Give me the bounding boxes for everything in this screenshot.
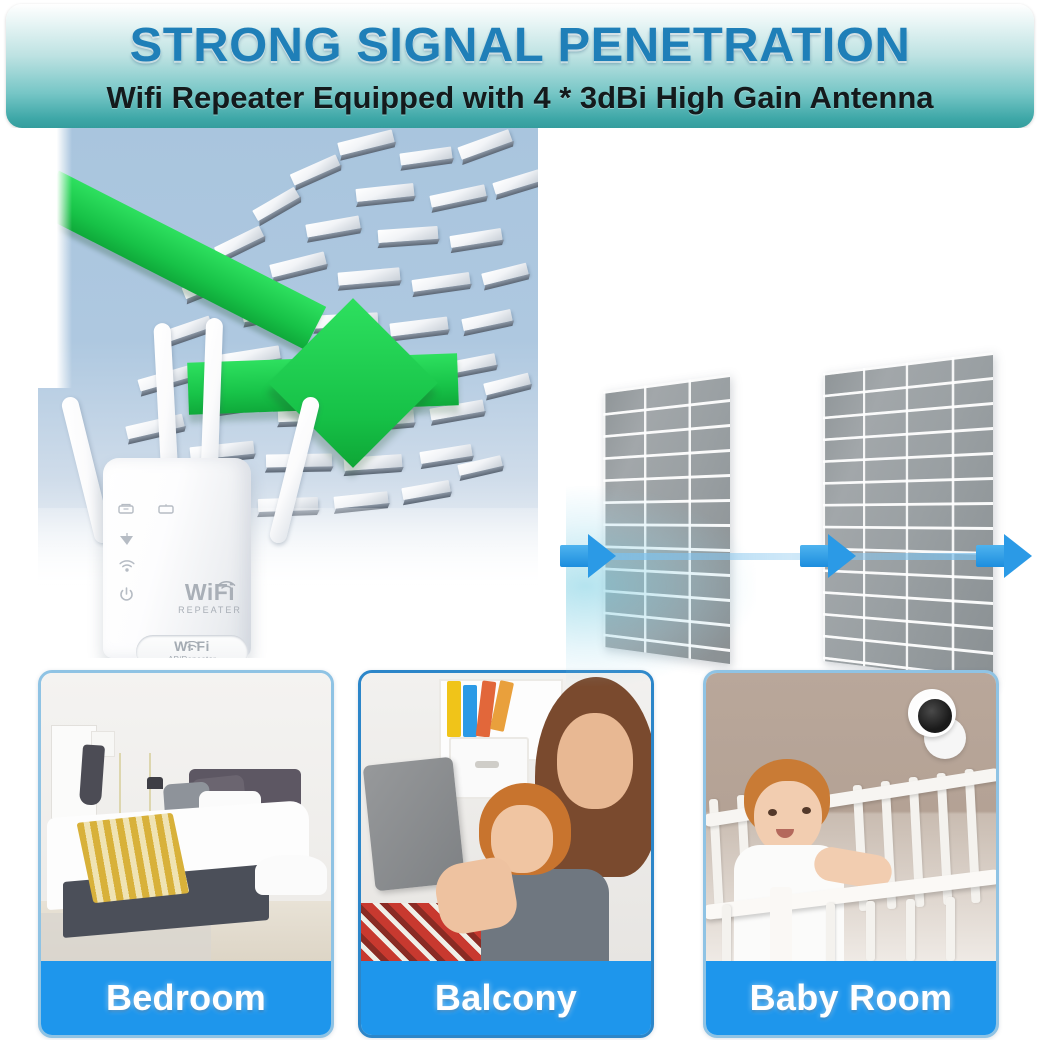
brand-repeater-text: REPEATER <box>162 604 258 616</box>
card-label-text: Baby Room <box>750 977 953 1019</box>
card-label-baby-room: Baby Room <box>706 961 996 1035</box>
button-wifi-arc-icon <box>184 637 200 654</box>
wps-ap-repeater-button[interactable]: Wi Fi AP/Repeater <box>136 635 248 658</box>
brick-wall-1 <box>603 374 730 664</box>
header-banner: STRONG SIGNAL PENETRATION Wifi Repeater … <box>6 4 1034 128</box>
use-case-card-baby-room[interactable]: Baby Room <box>703 670 999 1038</box>
signal-beam <box>563 553 1018 560</box>
page-subtitle: Wifi Repeater Equipped with 4 * 3dBi Hig… <box>6 80 1034 116</box>
button-mode-text: AP/Repeater <box>136 655 248 658</box>
page-title: STRONG SIGNAL PENETRATION <box>6 20 1034 72</box>
device-brand-mark: WiFi REPEATER <box>162 581 258 616</box>
card-label-text: Balcony <box>435 977 577 1019</box>
baby-room-photo <box>706 673 996 961</box>
signal-strength-led-icon <box>119 532 135 546</box>
use-case-card-bedroom[interactable]: Bedroom <box>38 670 334 1038</box>
use-case-card-balcony[interactable]: Balcony <box>358 670 654 1038</box>
balcony-photo <box>361 673 651 961</box>
wan-port-led-icon <box>118 503 134 516</box>
card-label-text: Bedroom <box>106 977 266 1019</box>
card-label-balcony: Balcony <box>361 961 651 1035</box>
hero-scene: WiFi REPEATER Wi Fi AP/Repeater <box>0 128 1040 658</box>
bedroom-photo <box>41 673 331 961</box>
lan-port-led-icon <box>158 503 174 516</box>
brick-wall-2 <box>823 352 993 682</box>
card-label-bedroom: Bedroom <box>41 961 331 1035</box>
wall-camera <box>908 689 956 737</box>
use-case-cards: Bedroom <box>0 662 1040 1040</box>
wall-breaking-photo: WiFi REPEATER Wi Fi AP/Repeater <box>38 128 538 658</box>
power-led-icon <box>119 587 134 602</box>
product-infographic-page: STRONG SIGNAL PENETRATION Wifi Repeater … <box>0 0 1040 1040</box>
wifi-led-icon <box>119 559 135 573</box>
wifi-repeater-device: WiFi REPEATER Wi Fi AP/Repeater <box>78 313 268 563</box>
brand-wifi-arc-icon <box>217 572 236 595</box>
